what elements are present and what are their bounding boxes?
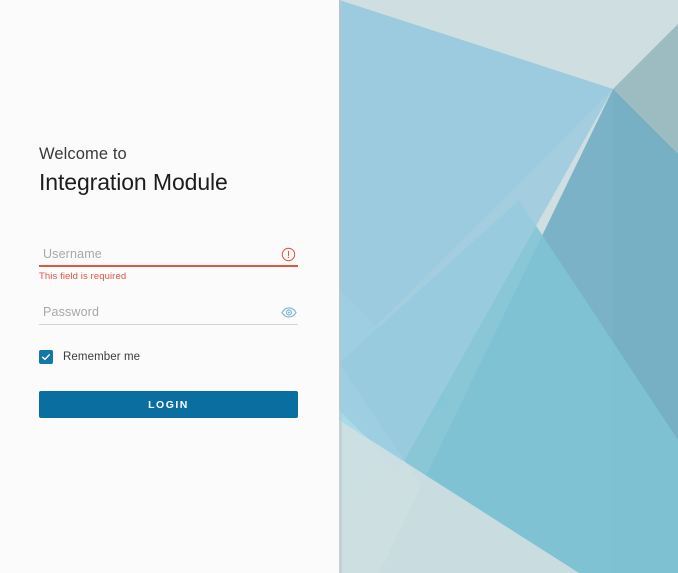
login-form: This field is required [39,242,298,418]
username-underline [39,265,298,267]
password-underline [39,324,298,325]
eye-icon[interactable] [280,304,297,321]
login-panel: Welcome to Integration Module This [0,0,339,573]
username-error-message: This field is required [39,271,298,282]
remember-me-checkbox[interactable] [39,350,53,364]
username-input[interactable] [39,242,298,266]
password-field-group [39,300,298,325]
check-icon [41,352,51,362]
remember-me-label: Remember me [63,351,140,363]
login-screen: Welcome to Integration Module This [0,0,678,573]
password-input[interactable] [39,300,298,324]
username-field-group [39,242,298,267]
login-form-container: Welcome to Integration Module This [39,143,298,418]
remember-me-row[interactable]: Remember me [39,350,298,364]
welcome-text: Welcome to [39,143,298,165]
error-circle-icon[interactable] [280,246,297,263]
decorative-artwork-panel [339,0,678,573]
login-button[interactable]: LOGIN [39,391,298,418]
page-title: Integration Module [39,167,298,198]
art-left-edge-strip [339,0,342,573]
